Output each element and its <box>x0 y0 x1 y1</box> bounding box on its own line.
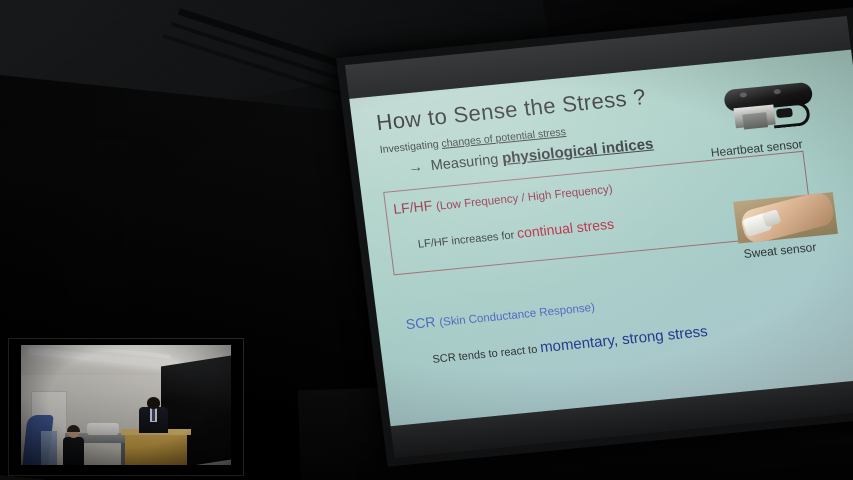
slide-subtitle-prefix: Investigating <box>379 138 442 156</box>
presentation-slide: How to Sense the Stress ? Investigating … <box>349 50 853 427</box>
projection-screen: How to Sense the Stress ? Investigating … <box>336 6 853 474</box>
heartbeat-sensor-image <box>712 75 823 141</box>
pip-banner-highlight <box>41 431 57 465</box>
sweat-sensor-image <box>733 192 838 243</box>
screenshot-stage: How to Sense the Stress ? Investigating … <box>0 0 853 480</box>
momentary-stress-emphasis: momentary, strong stress <box>539 323 709 356</box>
scr-detail-text: SCR tends to react to <box>432 343 541 365</box>
scr-detail: SCR tends to react to momentary, strong … <box>431 323 708 367</box>
arrow-icon: → <box>407 159 423 176</box>
scr-label: SCR <box>405 313 440 332</box>
presenter-video-pip[interactable] <box>8 338 244 476</box>
pip-attendee-body <box>63 437 84 465</box>
measuring-text: Measuring <box>430 151 503 174</box>
pip-podium <box>125 431 187 465</box>
scr-heading: SCR (Skin Conductance Response) <box>405 298 596 332</box>
pip-speaker-tie <box>152 409 155 421</box>
scr-expansion: (Skin Conductance Response) <box>439 302 596 329</box>
heartbeat-sensor-clip-inner <box>742 112 768 129</box>
heartbeat-sensor-plug <box>776 108 793 118</box>
slide-title: How to Sense the Stress ? <box>375 84 648 136</box>
sweat-sensor-caption: Sweat sensor <box>743 240 817 261</box>
pip-speaker-head <box>147 397 160 409</box>
pip-video-frame <box>21 345 231 465</box>
pip-attendee-hair <box>67 425 80 432</box>
pip-projector <box>87 423 119 435</box>
